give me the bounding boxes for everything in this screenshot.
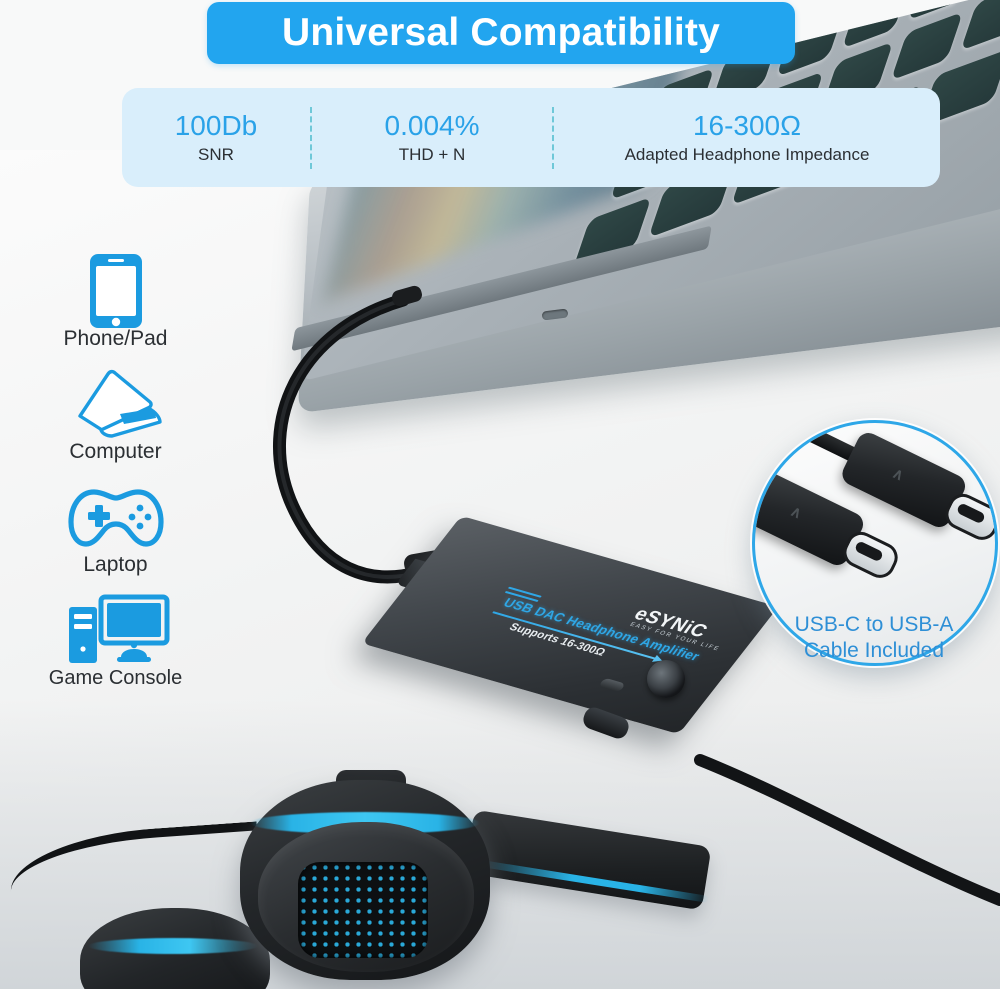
- spec-value-impedance: 16-300Ω: [554, 109, 940, 143]
- device-label-game-console: Game Console: [18, 665, 213, 691]
- device-label-laptop: Laptop: [18, 552, 213, 578]
- headline-banner: Universal Compatibility: [207, 2, 795, 64]
- spec-caption-thdn: THD + N: [312, 143, 552, 167]
- compatible-device-list: Phone/Pad Computer: [18, 252, 213, 704]
- device-label-computer: Computer: [18, 439, 213, 465]
- smartphone-icon: [18, 252, 213, 330]
- usb-c-callout-caption: USB-C to USB-A Cable Included: [752, 612, 996, 664]
- dac-amplifier-device: USB DAC Headphone Amplifier Supports 16-…: [395, 540, 775, 790]
- spec-value-snr: 100Db: [122, 109, 310, 143]
- device-item-computer: Computer: [18, 365, 213, 465]
- spec-item-thdn: 0.004% THD + N: [312, 109, 552, 167]
- device-label-phone: Phone/Pad: [18, 326, 213, 352]
- spec-item-snr: 100Db SNR: [122, 109, 310, 167]
- usb-c-callout-line1: USB-C to USB-A: [752, 612, 996, 638]
- device-item-laptop: Laptop: [18, 478, 213, 578]
- spec-caption-impedance: Adapted Headphone Impedance: [554, 143, 940, 167]
- usb-c-callout-line2: Cable Included: [752, 638, 996, 664]
- gamepad-icon: [18, 478, 213, 556]
- laptop-icon: [18, 365, 213, 443]
- spec-item-impedance: 16-300Ω Adapted Headphone Impedance: [554, 109, 940, 167]
- headset-speaker-mesh: [298, 862, 428, 958]
- spec-strip: 100Db SNR 0.004% THD + N 16-300Ω Adapted…: [122, 88, 940, 187]
- headset-earcup-secondary-accent: [88, 938, 258, 954]
- product-infographic: USB DAC Headphone Amplifier Supports 16-…: [0, 0, 1000, 989]
- gaming-headset-photo: [80, 770, 700, 989]
- device-item-phone: Phone/Pad: [18, 252, 213, 352]
- device-item-game-console: Game Console: [18, 591, 213, 691]
- desktop-pc-icon: [18, 591, 213, 669]
- dac-headphone-jack: [647, 660, 685, 698]
- spec-caption-snr: SNR: [122, 143, 310, 167]
- headline-text: Universal Compatibility: [282, 11, 720, 55]
- spec-value-thdn: 0.004%: [312, 109, 552, 143]
